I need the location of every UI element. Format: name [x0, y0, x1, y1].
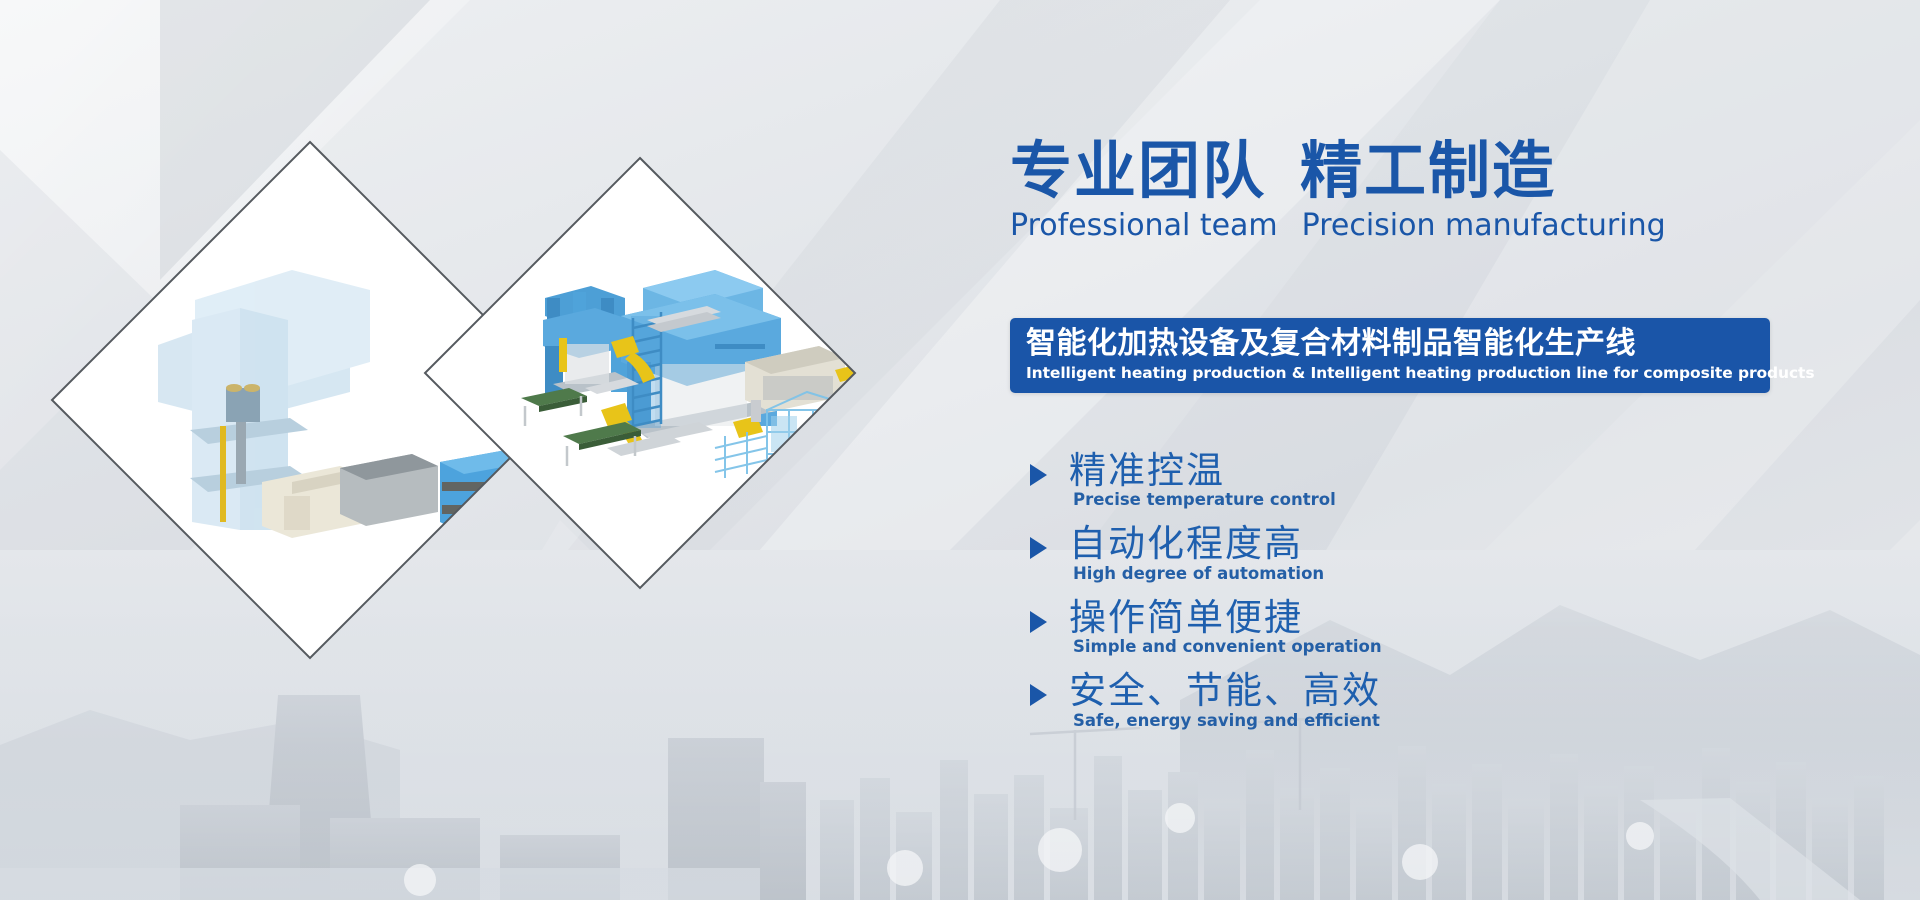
feature-label-cn: 操作简单便捷: [1069, 597, 1382, 638]
triangle-right-icon: [1030, 684, 1047, 706]
product-title-en: Intelligent heating production & Intelli…: [1026, 364, 1756, 382]
product-title-cn: 智能化加热设备及复合材料制品智能化生产线: [1026, 327, 1756, 362]
feature-label-en: Precise temperature control: [1073, 490, 1336, 509]
feature-label-en: Safe, energy saving and efficient: [1073, 711, 1381, 730]
feature-item: 自动化程度高 High degree of automation: [1030, 523, 1730, 582]
banner-content: 专业团队 精工制造 Professional team Precision ma…: [1010, 140, 1800, 243]
feature-label-en: Simple and convenient operation: [1073, 637, 1382, 656]
feature-item: 安全、节能、高效 Safe, energy saving and efficie…: [1030, 670, 1730, 729]
feature-item: 精准控温 Precise temperature control: [1030, 450, 1730, 509]
feature-item: 操作简单便捷 Simple and convenient operation: [1030, 597, 1730, 656]
headline-en-left: Professional team: [1010, 208, 1278, 243]
triangle-right-icon: [1030, 611, 1047, 633]
triangle-right-icon: [1030, 464, 1047, 486]
feature-label-cn: 精准控温: [1069, 450, 1336, 491]
feature-label-cn: 自动化程度高: [1069, 523, 1324, 564]
feature-label-en: High degree of automation: [1073, 564, 1324, 583]
feature-label-cn: 安全、节能、高效: [1069, 670, 1381, 711]
headline-cn: 专业团队 精工制造: [1010, 140, 1800, 202]
feature-list: 精准控温 Precise temperature control 自动化程度高 …: [1030, 450, 1730, 744]
product-diamond-2: [415, 148, 865, 598]
headline-cn-left: 专业团队: [1010, 140, 1266, 202]
triangle-right-icon: [1030, 537, 1047, 559]
headline-cn-right: 精工制造: [1300, 140, 1556, 202]
product-title-box: 智能化加热设备及复合材料制品智能化生产线 Intelligent heating…: [1010, 318, 1770, 393]
headline-en-right: Precision manufacturing: [1302, 208, 1666, 243]
headline-en: Professional team Precision manufacturin…: [1010, 208, 1800, 243]
promo-banner: 专业团队 精工制造 Professional team Precision ma…: [0, 0, 1920, 900]
